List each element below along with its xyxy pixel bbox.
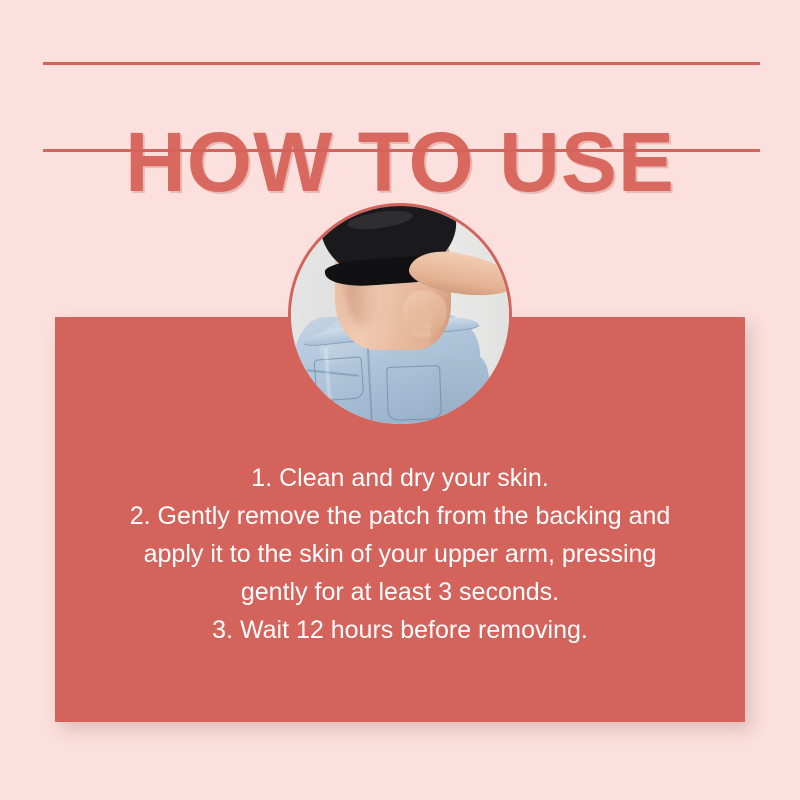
instruction-line: 2. Gently remove the patch from the back…	[83, 497, 717, 535]
instruction-line: 3. Wait 12 hours before removing.	[83, 611, 717, 649]
instruction-list: 1. Clean and dry your skin. 2. Gently re…	[55, 459, 745, 649]
instruction-line: 1. Clean and dry your skin.	[83, 459, 717, 497]
instruction-line: apply it to the skin of your upper arm, …	[83, 535, 717, 573]
page-title: HOW TO USE	[0, 119, 800, 205]
product-usage-photo	[288, 203, 512, 427]
jeans-pocket	[314, 356, 365, 401]
jeans-leg	[433, 356, 489, 424]
title-rule-bottom	[43, 149, 760, 152]
instruction-line: gently for at least 3 seconds.	[83, 573, 717, 611]
jeans-pocket	[386, 365, 442, 421]
how-to-use-poster: HOW TO USE 1. Clean and dry your skin. 2…	[0, 0, 800, 800]
title-rule-top	[43, 62, 760, 65]
photo-stage	[291, 206, 509, 424]
